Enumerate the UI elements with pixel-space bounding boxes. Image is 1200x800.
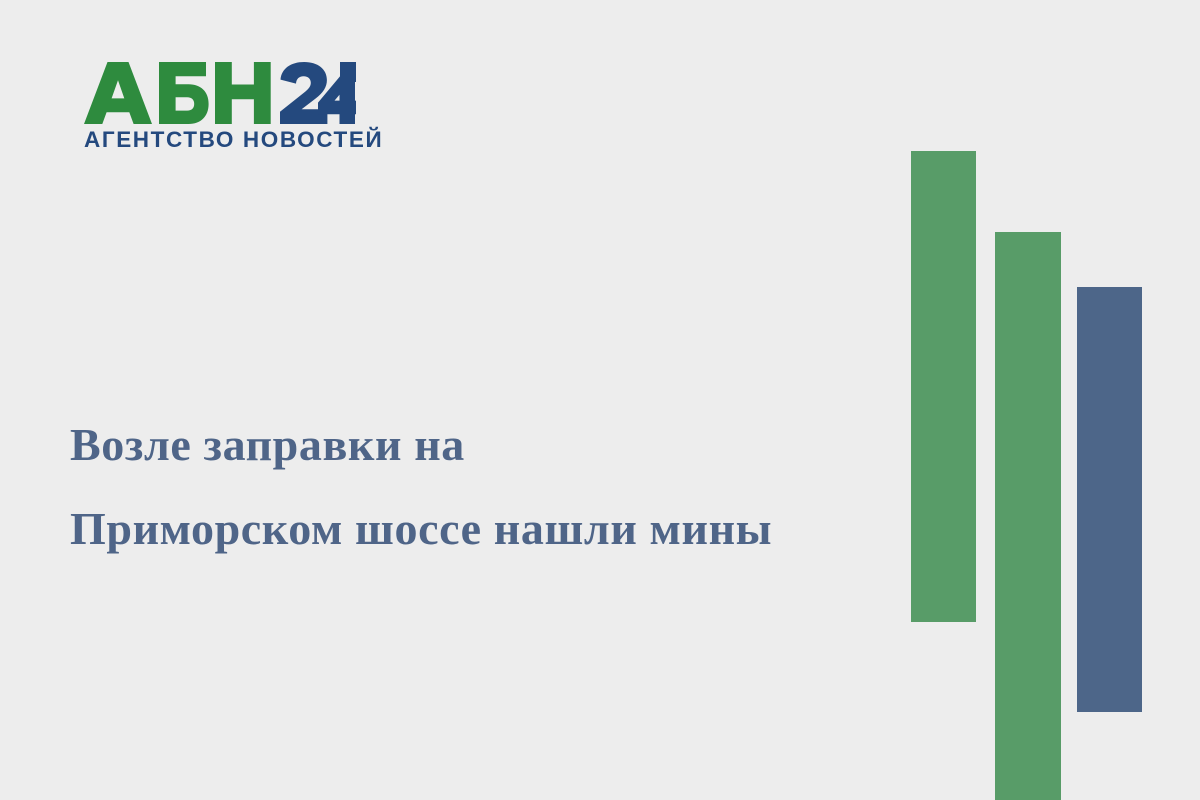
headline-line-2: Приморском шоссе нашли мины xyxy=(70,487,870,571)
chart-bar-3 xyxy=(1077,287,1142,712)
headline-line-1: Возле заправки на xyxy=(70,403,870,487)
news-card: АГЕНТСТВО НОВОСТЕЙ Возле заправки на При… xyxy=(0,0,1200,800)
chart-bar-1 xyxy=(911,151,976,622)
page-title: Возле заправки на Приморском шоссе нашли… xyxy=(70,403,870,571)
logo-lockup[interactable]: АГЕНТСТВО НОВОСТЕЙ xyxy=(84,62,374,152)
logo-tagline: АГЕНТСТВО НОВОСТЕЙ xyxy=(84,129,374,152)
chart-bar-2 xyxy=(995,232,1061,800)
abn24-wordmark-icon xyxy=(84,62,356,124)
